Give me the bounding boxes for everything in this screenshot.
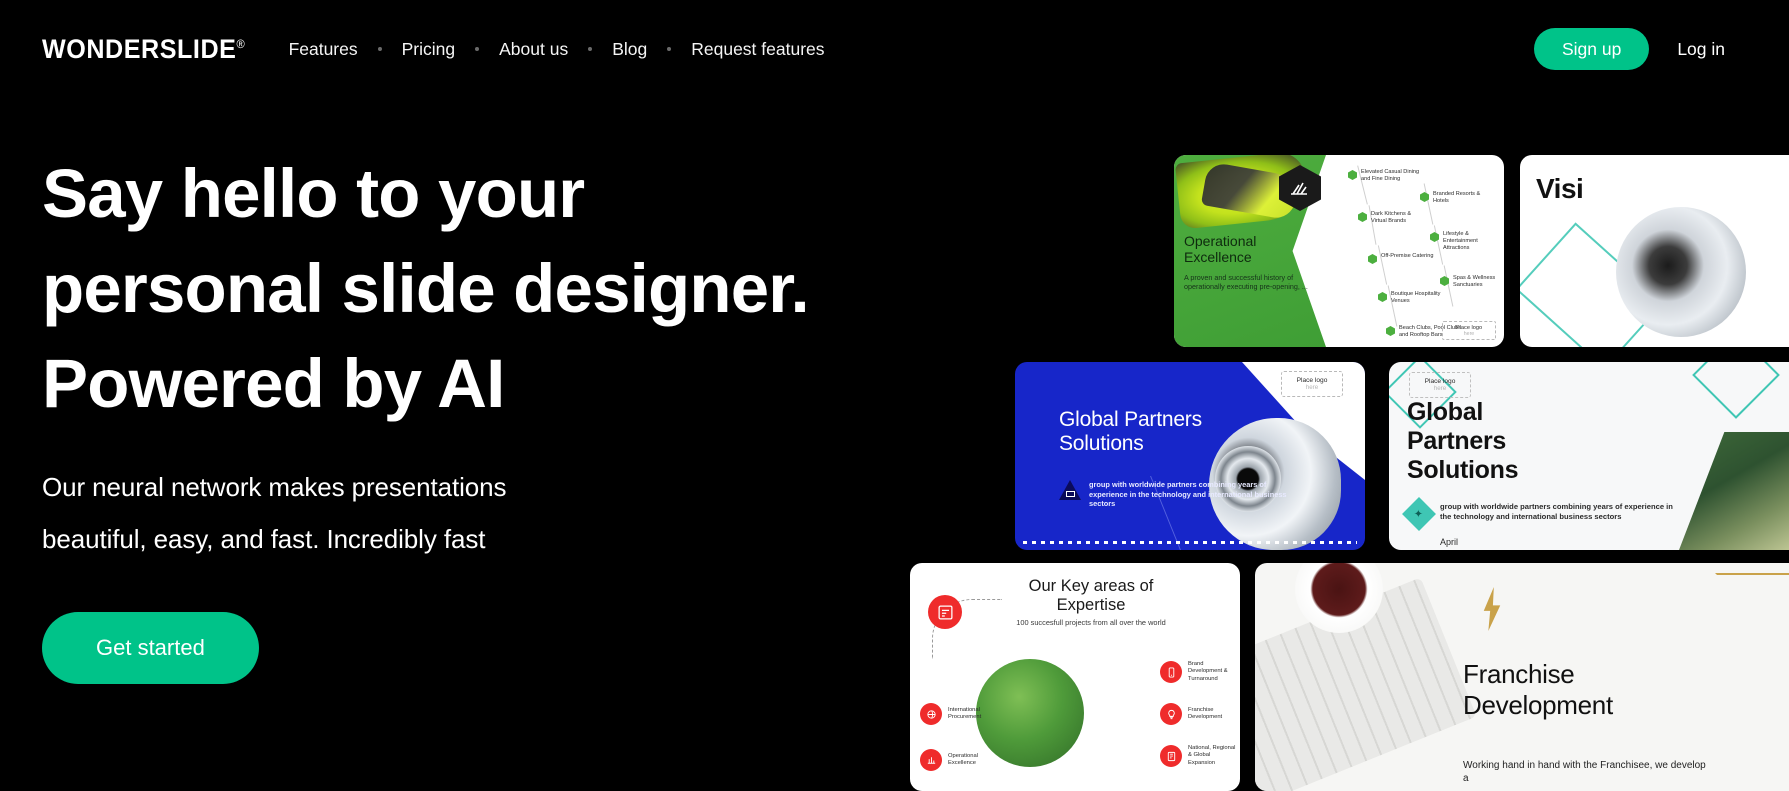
list-item-label: Branded Resorts & Hotels [1433, 191, 1492, 205]
presentation-triangle-icon [1059, 480, 1081, 500]
slide-title-line-3: Solutions [1407, 456, 1657, 485]
logo-placeholder-line-2: here [1434, 385, 1446, 392]
slide-thumbnail-operational-excellence[interactable]: Operational Excellence A proven and succ… [1174, 155, 1504, 347]
list-item: Elevated Casual Dining and Fine Dining [1348, 169, 1422, 183]
slide-body-text: group with worldwide partners combining … [1440, 502, 1677, 522]
nav-separator-dot-icon [378, 47, 382, 51]
slide-date-label: April [1440, 537, 1458, 547]
list-item: Franchise Development [1160, 703, 1238, 725]
list-item: Lifestyle & Entertainment Attractions [1430, 231, 1492, 253]
slide-thumbnails-showcase: Operational Excellence A proven and succ… [905, 150, 1789, 791]
hexagon-bullet-icon [1378, 292, 1387, 302]
globe-expansion-icon [1160, 745, 1182, 767]
logo-placeholder-line-1: Place logo [1297, 377, 1328, 384]
slide-title-line-1: Franchise [1463, 659, 1713, 690]
page-title: Say hello to your personal slide designe… [42, 146, 1022, 431]
subtitle-line-1: Our neural network makes presentations [42, 472, 506, 502]
robot-photo [1616, 207, 1746, 337]
list-item: Operational Excellence [920, 749, 994, 771]
brand-logo[interactable]: WONDERSLIDE® [42, 34, 245, 65]
headline-line-2: personal slide designer. [42, 241, 1022, 336]
list-item: Branded Resorts & Hotels [1420, 191, 1492, 205]
logo-placeholder: Place logo here [1442, 321, 1496, 340]
brand-name: WONDERSLIDE [42, 34, 236, 65]
list-item-label: Off-Premise Catering [1381, 253, 1433, 260]
dotted-border-decoration [1023, 541, 1357, 544]
slide-item-list: Elevated Casual Dining and Fine Dining D… [1324, 155, 1504, 347]
slide-body-text: group with worldwide partners combining … [1089, 480, 1299, 509]
list-item-label: National, Regional & Global Expansion [1188, 745, 1238, 767]
logo-placeholder: Place logo here [1281, 371, 1343, 397]
slide-title-line-2: Development [1463, 690, 1713, 721]
foliage-photo [1679, 432, 1789, 550]
slide-title: Franchise Development [1463, 659, 1713, 721]
slide-title: Our Key areas of Expertise [1006, 577, 1176, 615]
nav-actions: Sign up Log in [1534, 28, 1747, 71]
slide-thumbnail-vision[interactable]: Visi [1520, 155, 1789, 347]
nav-link-features[interactable]: Features [287, 39, 360, 60]
slide-thumbnail-global-partners-blue[interactable]: Place logo here Global Partners Solution… [1015, 362, 1365, 550]
top-navigation-bar: WONDERSLIDE® Features Pricing About us B… [0, 0, 1789, 98]
nav-link-request-features[interactable]: Request features [689, 39, 826, 60]
slide-title-line-2: Partners [1407, 427, 1657, 456]
list-item-label: International Procurement [948, 707, 994, 722]
brand-registered-mark: ® [236, 38, 245, 50]
connector-line [1378, 245, 1387, 284]
operational-excellence-icon [920, 749, 942, 771]
nav-link-about-us[interactable]: About us [497, 39, 570, 60]
slide-thumbnail-global-partners-white[interactable]: Place logo here Global Partners Solution… [1389, 362, 1789, 550]
list-item: Brand Development & Turnaround [1160, 661, 1238, 683]
hero-section: Say hello to your personal slide designe… [42, 146, 1022, 684]
list-item: Dark Kitchens & Virtual Brands [1358, 211, 1428, 225]
headline-line-1: Say hello to your [42, 146, 1022, 241]
slide-title: Visi [1536, 173, 1583, 205]
list-item-label: Spas & Wellness Sanctuaries [1453, 275, 1502, 289]
nav-links: Features Pricing About us Blog Request f… [287, 39, 827, 60]
slide-body: ✦ group with worldwide partners combinin… [1407, 502, 1677, 526]
list-item: International Procurement [920, 703, 994, 725]
hexagon-bullet-icon [1420, 192, 1429, 202]
nav-link-blog[interactable]: Blog [610, 39, 649, 60]
hexagon-bullet-icon [1348, 170, 1357, 180]
landing-page: WONDERSLIDE® Features Pricing About us B… [0, 0, 1789, 791]
get-started-button[interactable]: Get started [42, 612, 259, 684]
list-item-label: Boutique Hospitality Venues [1391, 291, 1448, 305]
list-item-label: Operational Excellence [948, 753, 994, 768]
hexagon-bullet-icon [1430, 232, 1439, 242]
list-item-label: Elevated Casual Dining and Fine Dining [1361, 169, 1422, 183]
nav-separator-dot-icon [667, 47, 671, 51]
hexagon-bullet-icon [1440, 276, 1449, 286]
slide-title-line-1: Global Partners [1059, 408, 1269, 432]
logo-placeholder-line-1: Place logo [1425, 378, 1456, 385]
slide-title-line-1: Global [1407, 398, 1657, 427]
brand-development-icon [1160, 661, 1182, 683]
hexagon-bullet-icon [1368, 254, 1377, 264]
list-item-label: Brand Development & Turnaround [1188, 661, 1238, 683]
slide-body-text: Working hand in hand with the Franchisee… [1463, 759, 1713, 785]
slide-body-text: A proven and successful history of opera… [1184, 273, 1314, 292]
nav-separator-dot-icon [588, 47, 592, 51]
teal-diamond-icon [1692, 362, 1780, 419]
subtitle-line-2: beautiful, easy, and fast. Incredibly fa… [42, 524, 485, 554]
slide-body: group with worldwide partners combining … [1059, 480, 1299, 509]
hexagon-bullet-icon [1386, 326, 1395, 336]
list-item: National, Regional & Global Expansion [1160, 745, 1238, 767]
slide-title-line-2: Expertise [1006, 596, 1176, 615]
list-item-label: Dark Kitchens & Virtual Brands [1371, 211, 1428, 225]
list-item-label: Lifestyle & Entertainment Attractions [1443, 231, 1492, 253]
list-item: Boutique Hospitality Venues [1378, 291, 1448, 305]
slide-title-line-1: Our Key areas of [1006, 577, 1176, 596]
slide-thumbnail-franchise-development[interactable]: Franchise Development Working hand in ha… [1255, 563, 1789, 791]
logo-placeholder: Place logo here [1409, 372, 1471, 398]
slide-title: Operational Excellence [1184, 233, 1314, 265]
lightning-bolt-icon [1481, 585, 1503, 633]
sign-up-button[interactable]: Sign up [1534, 28, 1649, 70]
list-item: Off-Premise Catering [1368, 253, 1446, 264]
log-in-link[interactable]: Log in [1655, 28, 1747, 71]
nav-separator-dot-icon [475, 47, 479, 51]
slide-title: Global Partners Solutions [1407, 398, 1657, 485]
lightbulb-icon [1160, 703, 1182, 725]
slide-subtitle: 100 succesfull projects from all over th… [1006, 618, 1176, 627]
diamond-badge-icon: ✦ [1402, 497, 1436, 531]
procurement-icon [920, 703, 942, 725]
nav-link-pricing[interactable]: Pricing [400, 39, 458, 60]
headline-line-3: Powered by AI [42, 336, 1022, 431]
gold-triangle-decoration [1715, 573, 1789, 659]
list-item: Spas & Wellness Sanctuaries [1440, 275, 1502, 289]
logo-placeholder-line-2: here [1464, 331, 1474, 337]
logo-placeholder-line-2: here [1306, 384, 1318, 391]
hexagon-bullet-icon [1358, 212, 1367, 222]
hero-subtitle: Our neural network makes presentations b… [42, 461, 1022, 565]
list-item-label: Franchise Development [1188, 707, 1238, 722]
